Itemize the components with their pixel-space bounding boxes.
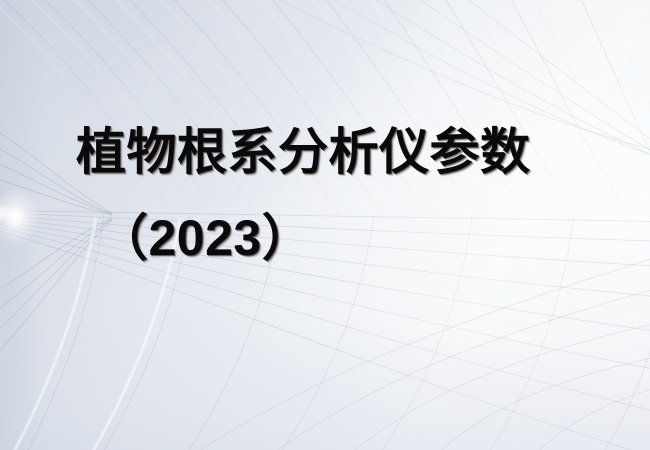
page-title: 植物根系分析仪参数 <box>76 122 531 182</box>
title-slide: 植物根系分析仪参数 （2023） <box>0 0 650 450</box>
page-subtitle-year: （2023） <box>98 208 312 268</box>
title-text-block: 植物根系分析仪参数 （2023） <box>0 0 650 450</box>
